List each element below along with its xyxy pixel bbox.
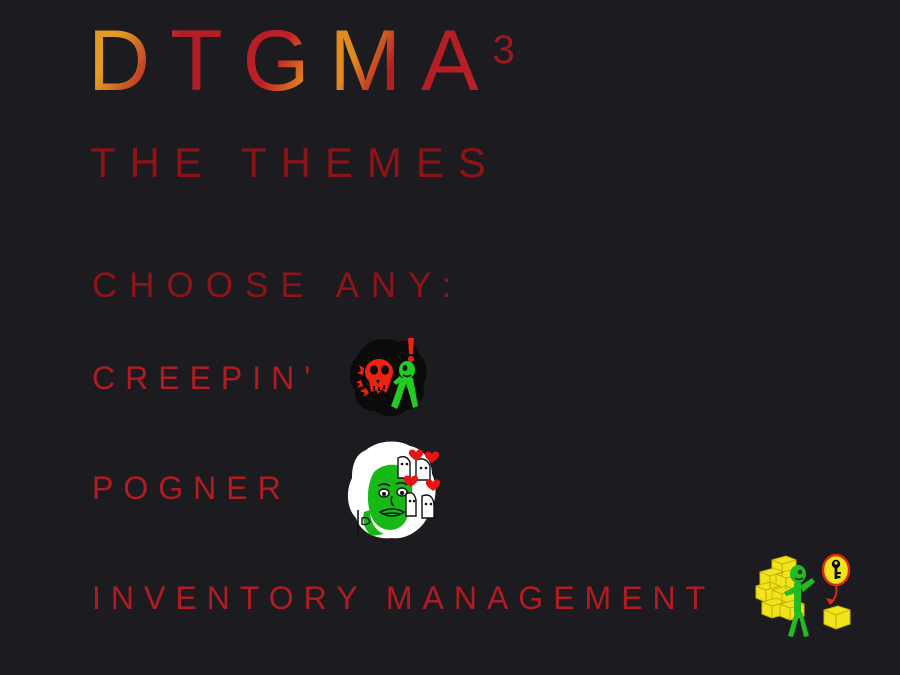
theme-row-pogner[interactable]: POGNER <box>92 472 291 504</box>
choose-prompt: CHOOSE ANY: <box>92 268 463 303</box>
theme-label-inventory: INVENTORY MANAGEMENT <box>92 582 715 614</box>
title-superscript: 3 <box>493 30 515 70</box>
pogner-doodle-icon <box>336 438 450 546</box>
title-text: DTGMA <box>88 18 499 104</box>
theme-label-pogner: POGNER <box>92 472 291 504</box>
inventory-doodle-icon <box>750 552 862 638</box>
theme-row-inventory[interactable]: INVENTORY MANAGEMENT <box>92 582 715 614</box>
page-title: DTGMA 3 <box>88 18 515 104</box>
creepin-doodle-icon <box>345 336 433 420</box>
subtitle: THE THEMES <box>90 142 500 184</box>
theme-row-creepin[interactable]: CREEPIN' <box>92 362 320 394</box>
theme-label-creepin: CREEPIN' <box>92 362 320 394</box>
slide-root: DTGMA 3 THE THEMES CHOOSE ANY: CREEPIN' <box>0 0 900 675</box>
